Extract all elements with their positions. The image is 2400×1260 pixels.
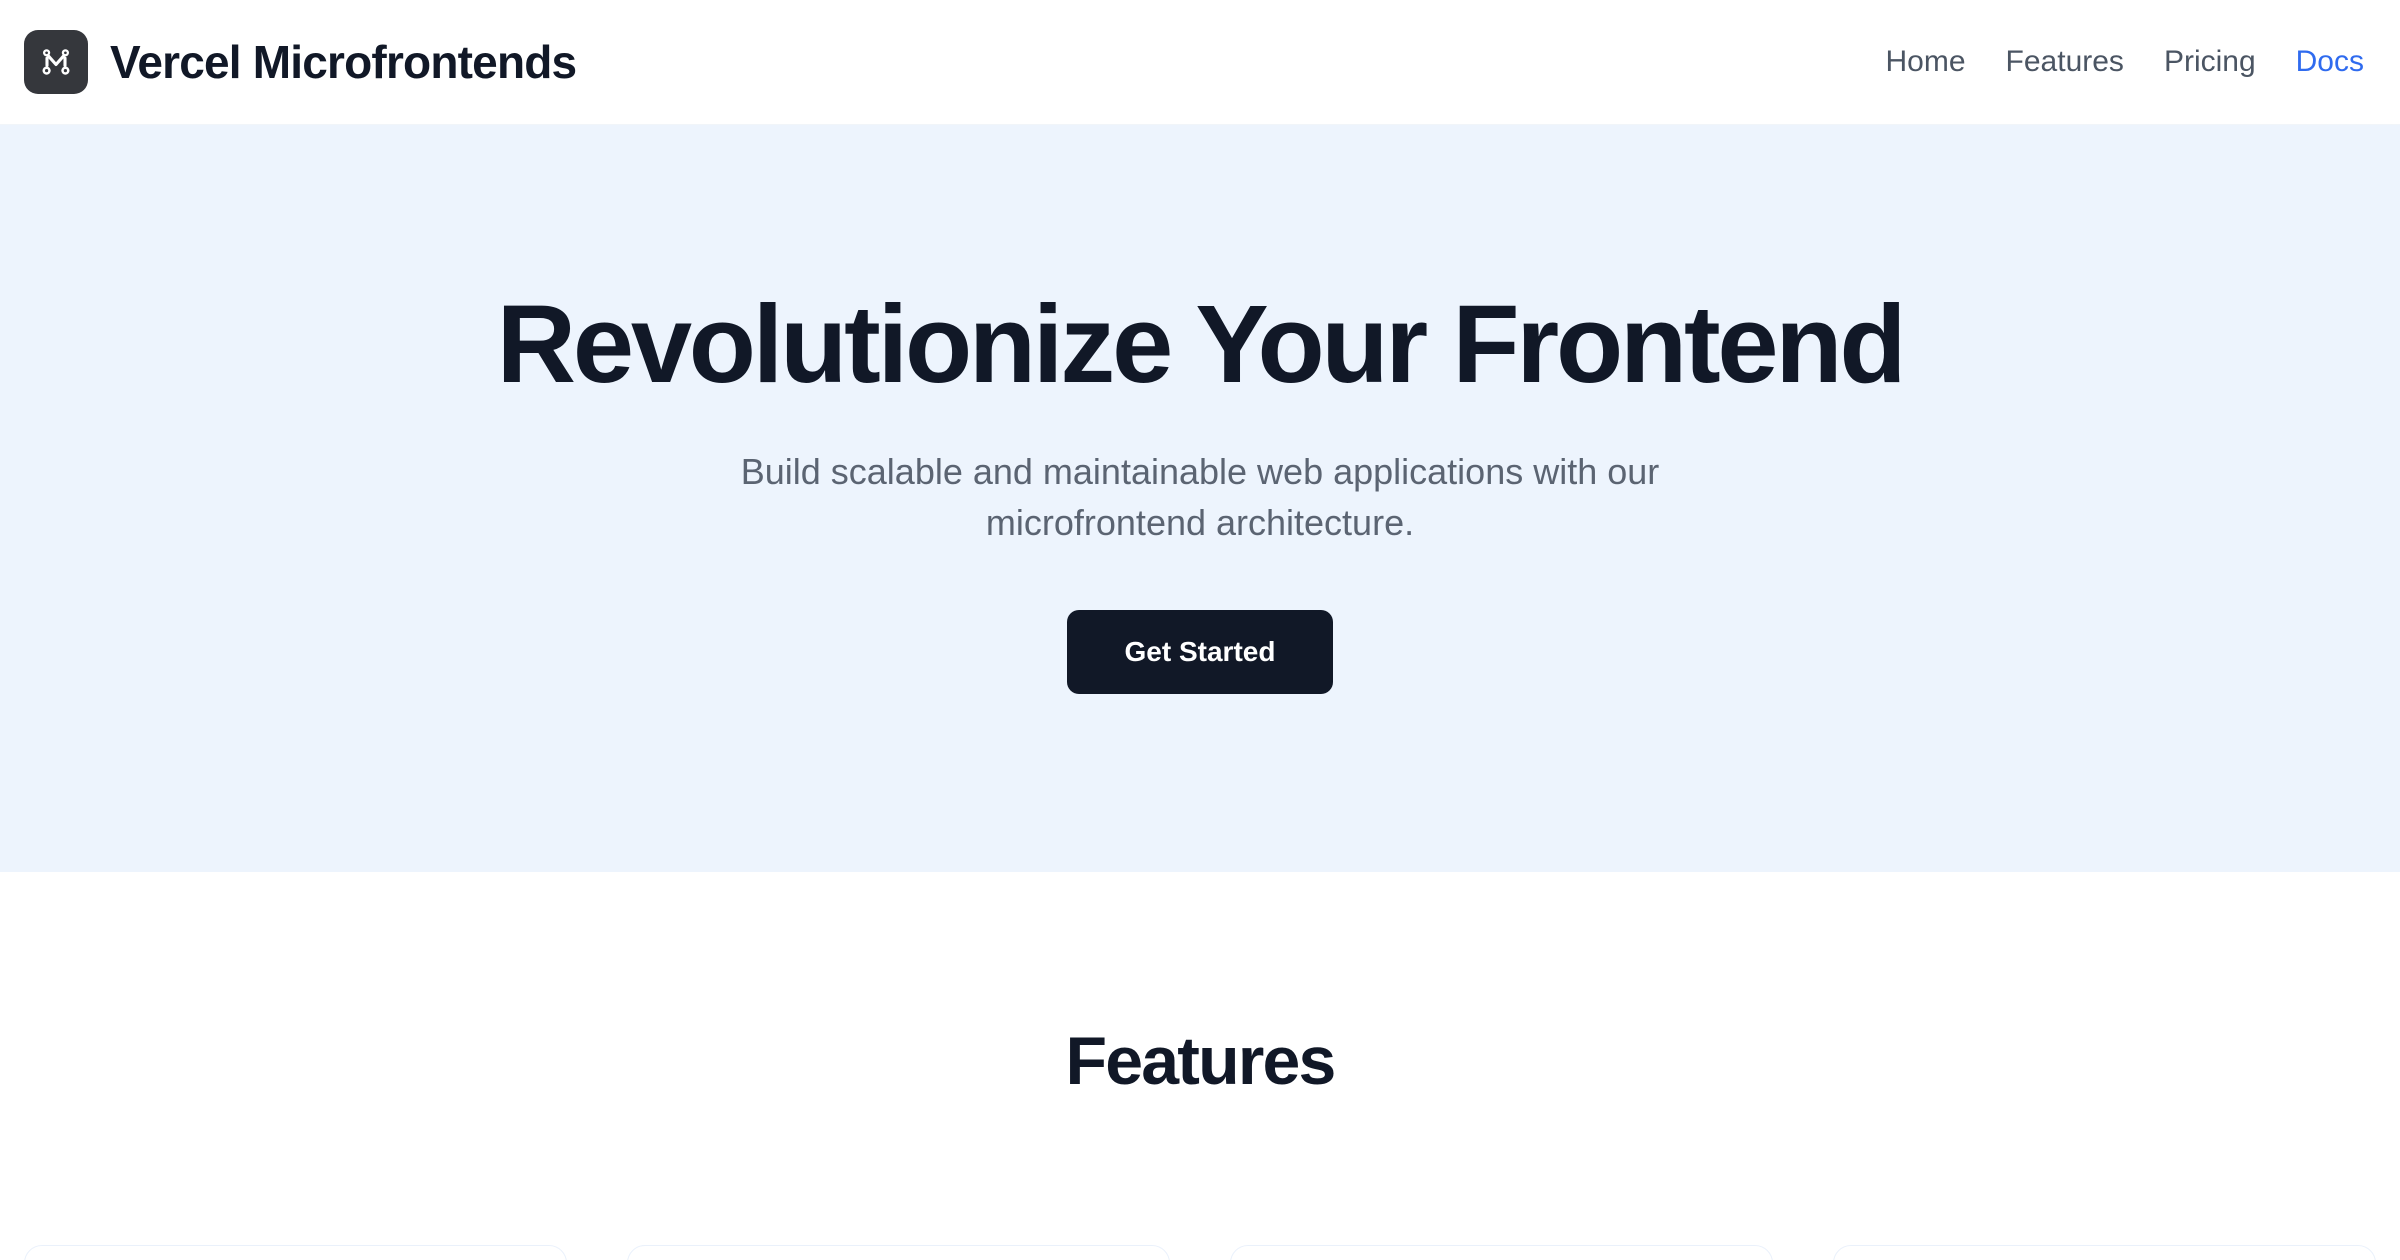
nav-link-docs[interactable]: Docs (2296, 45, 2364, 79)
nav-link-features[interactable]: Features (2006, 45, 2124, 79)
hero-section: Revolutionize Your Frontend Build scalab… (0, 125, 2400, 872)
feature-card[interactable] (1230, 1245, 1773, 1260)
nav-link-pricing[interactable]: Pricing (2164, 45, 2256, 79)
brand-name: Vercel Microfrontends (110, 35, 576, 89)
hero-title: Revolutionize Your Frontend (497, 287, 1904, 404)
feature-card[interactable] (627, 1245, 1170, 1260)
get-started-button[interactable]: Get Started (1067, 610, 1334, 694)
nav-link-home[interactable]: Home (1886, 45, 1966, 79)
features-title: Features (0, 1022, 2400, 1100)
features-grid (0, 1245, 2400, 1260)
microfrontends-graph-icon (24, 30, 88, 94)
feature-card[interactable] (1833, 1245, 2376, 1260)
features-section: Features (0, 872, 2400, 1260)
hero-subtitle: Build scalable and maintainable web appl… (640, 446, 1760, 548)
feature-card[interactable] (24, 1245, 567, 1260)
brand-logo[interactable]: Vercel Microfrontends (24, 30, 576, 94)
primary-navigation: Home Features Pricing Docs (1886, 45, 2364, 79)
site-header: Vercel Microfrontends Home Features Pric… (0, 0, 2400, 125)
